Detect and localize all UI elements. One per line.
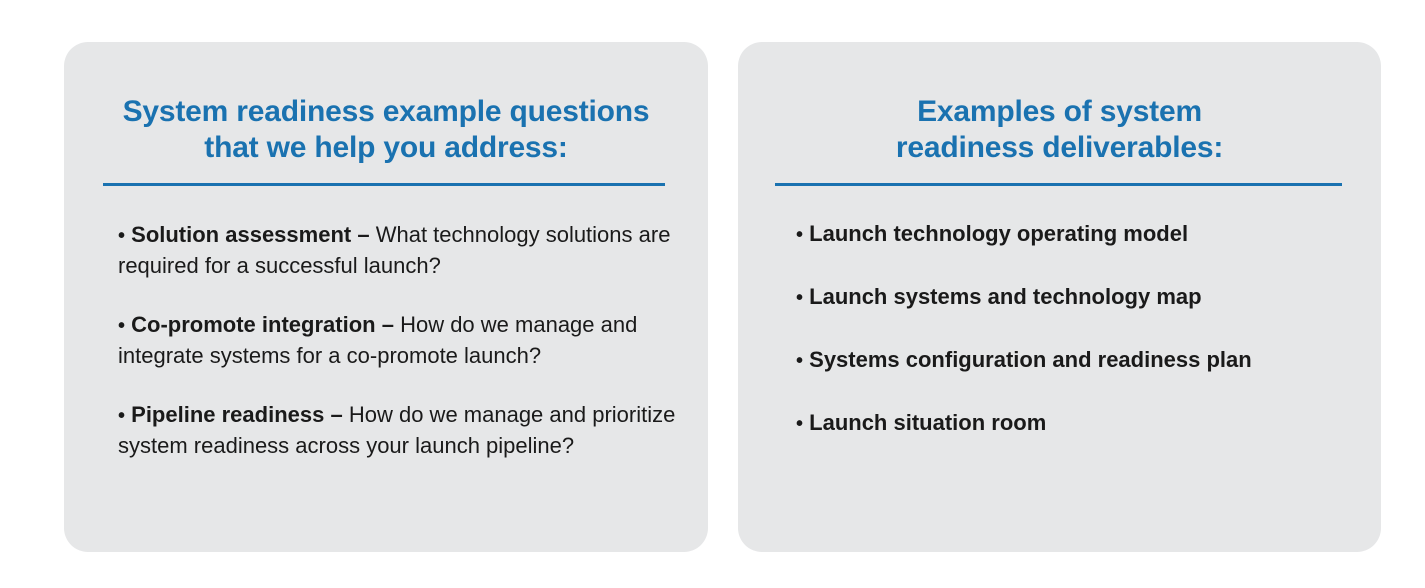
bullet-marker-icon: •	[796, 350, 803, 372]
slide-canvas: System readiness example questions that …	[0, 0, 1425, 588]
list-item-dash: –	[330, 402, 342, 427]
list-item-term: Pipeline readiness	[131, 402, 324, 427]
list-item-dash: –	[357, 222, 369, 247]
panel-system-readiness-questions: System readiness example questions that …	[64, 42, 708, 552]
panel-right-heading-line1: Examples of system	[917, 95, 1202, 128]
panel-right-heading: Examples of system readiness deliverable…	[738, 94, 1381, 166]
bullet-marker-icon: •	[796, 287, 803, 309]
panel-right-heading-line2: readiness deliverables:	[896, 131, 1223, 164]
bullet-marker-icon: •	[118, 225, 125, 247]
list-item: • Launch systems and technology map	[796, 283, 1361, 312]
list-item: • Solution assessment – What technology …	[118, 220, 684, 280]
list-item: • Launch technology operating model	[796, 220, 1361, 249]
panel-system-readiness-deliverables: Examples of system readiness deliverable…	[738, 42, 1381, 552]
list-item-term: Launch situation room	[809, 410, 1046, 435]
list-item-term: Co-promote integration	[131, 312, 375, 337]
panel-left-bullet-list: • Solution assessment – What technology …	[118, 220, 684, 460]
bullet-marker-icon: •	[796, 413, 803, 435]
panel-left-heading-line2: that we help you address:	[204, 131, 567, 164]
list-item: • Co-promote integration – How do we man…	[118, 310, 684, 370]
panel-right-bullet-list: • Launch technology operating model • La…	[796, 220, 1361, 472]
panel-right-divider	[775, 183, 1342, 186]
list-item-term: Solution assessment	[131, 222, 351, 247]
list-item: • Launch situation room	[796, 409, 1361, 438]
list-item-dash: –	[382, 312, 394, 337]
list-item-term: Systems configuration and readiness plan	[809, 347, 1252, 372]
list-item-term: Launch technology operating model	[809, 221, 1188, 246]
list-item-term: Launch systems and technology map	[809, 284, 1201, 309]
panel-left-heading-line1: System readiness example questions	[123, 95, 650, 128]
panel-left-heading: System readiness example questions that …	[64, 94, 708, 166]
bullet-marker-icon: •	[796, 224, 803, 246]
list-item: • Systems configuration and readiness pl…	[796, 346, 1361, 375]
list-item: • Pipeline readiness – How do we manage …	[118, 400, 684, 460]
bullet-marker-icon: •	[118, 405, 125, 427]
panel-left-divider	[103, 183, 665, 186]
bullet-marker-icon: •	[118, 315, 125, 337]
